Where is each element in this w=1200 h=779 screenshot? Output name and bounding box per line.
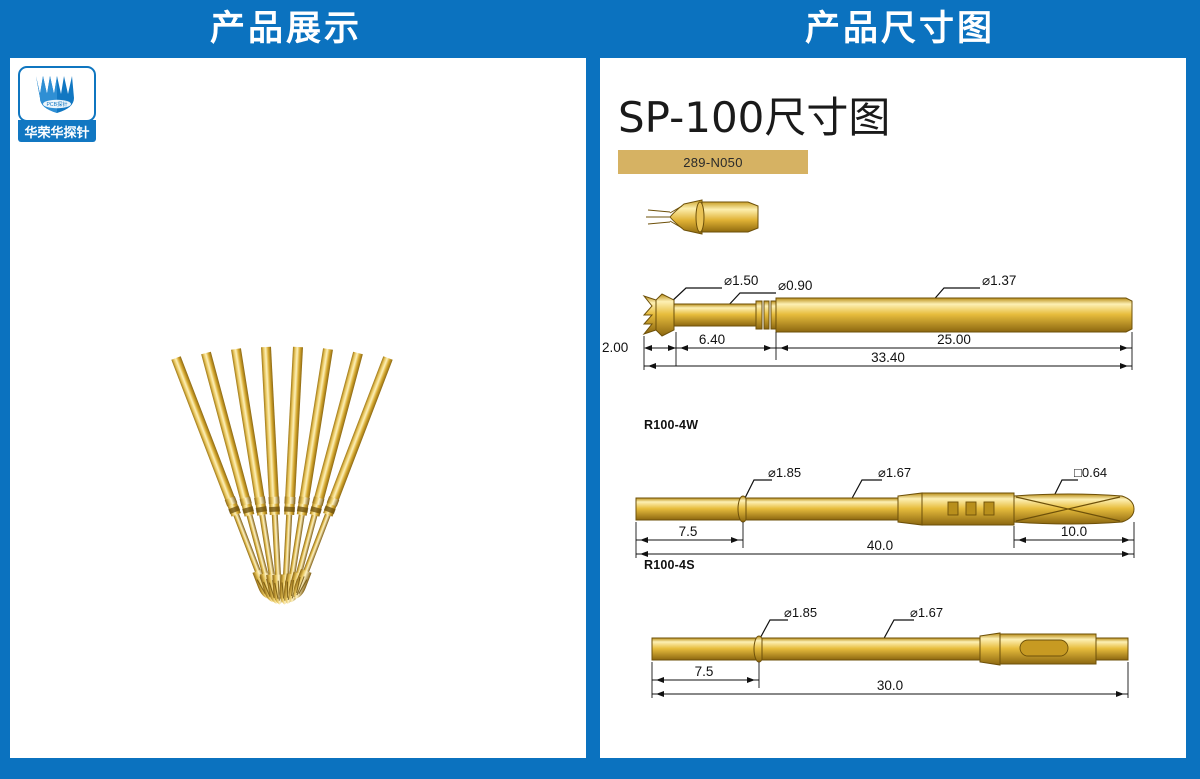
- drawing-3-dia-2: ⌀1.67: [910, 605, 943, 620]
- drawing-1-len-2: 6.40: [699, 332, 725, 347]
- dimension-drawing-panel: 产品尺寸图 SP-100尺寸图 289-N050: [600, 0, 1200, 779]
- drawing-3: R100-4S ⌀1.85 ⌀1.67: [600, 558, 1186, 688]
- drawing-2-dia-3: □0.64: [1074, 465, 1107, 480]
- product-photo: [10, 58, 586, 758]
- drawing-2-dia-2: ⌀1.67: [878, 465, 911, 480]
- left-panel-header-label: 产品展示: [210, 12, 362, 47]
- drawing-2-len-3: 10.0: [1061, 524, 1087, 539]
- product-display-panel: 产品展示 PCB探针 华荣华探针: [0, 0, 586, 779]
- drawing-1-len-total: 33.40: [871, 350, 905, 365]
- probe-tip-illustration: [640, 192, 780, 242]
- right-panel-header: 产品尺寸图: [600, 0, 1200, 58]
- drawing-1-len-1: 2.00: [602, 340, 628, 355]
- drawing-3-len-1: 7.5: [695, 664, 714, 679]
- product-photo-card: PCB探针 华荣华探针: [10, 58, 586, 758]
- right-panel-header-label: 产品尺寸图: [805, 12, 995, 47]
- drawing-2-dia-1: ⌀1.85: [768, 465, 801, 480]
- drawing-2-label: R100-4W: [644, 418, 698, 432]
- drawing-1: ⌀1.50 ⌀0.90 ⌀1.37: [600, 248, 1186, 388]
- drawing-1-len-3: 25.00: [937, 332, 971, 347]
- drawing-3-dia-1: ⌀1.85: [784, 605, 817, 620]
- drawing-2-len-2: 40.0: [867, 538, 893, 553]
- drawing-2-len-1: 7.5: [679, 524, 698, 539]
- dimension-drawing-card: SP-100尺寸图 289-N050: [600, 58, 1186, 758]
- drawing-3-len-2: 30.0: [877, 678, 903, 693]
- drawing-1-dia-2: ⌀0.90: [778, 278, 812, 293]
- drawing-1-dia-1: ⌀1.50: [724, 273, 758, 288]
- drawing-2: R100-4W ⌀1.85 ⌀1.67 □0.64: [600, 418, 1186, 548]
- drawing-3-label: R100-4S: [644, 558, 695, 572]
- drawing-title: SP-100尺寸图: [618, 84, 890, 145]
- part-number-badge: 289-N050: [618, 150, 808, 174]
- drawing-1-dia-3: ⌀1.37: [982, 273, 1016, 288]
- left-panel-header: 产品展示: [0, 0, 572, 58]
- product-spec-page: 产品展示 PCB探针 华荣华探针: [0, 0, 1200, 779]
